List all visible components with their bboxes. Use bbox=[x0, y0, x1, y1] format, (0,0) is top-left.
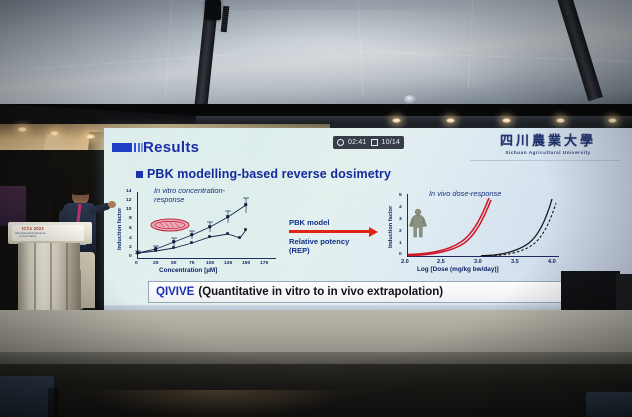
lectern-banner-line1: ICCs 2023 bbox=[22, 226, 44, 231]
ceiling-beam-right bbox=[556, 0, 603, 101]
slide-title: Results bbox=[143, 139, 199, 156]
slide-header-rule bbox=[470, 160, 620, 161]
pbk-model-label: PBK model bbox=[289, 218, 387, 227]
qivive-footer-box: QIVIVE (Quantitative in vitro to in vivo… bbox=[148, 281, 588, 303]
ceiling-downlight bbox=[18, 127, 27, 132]
ceiling-dome-light bbox=[404, 95, 417, 104]
slide-subtitle-row: PBK modelling-based reverse dosimetry bbox=[136, 167, 391, 181]
left-violet-panel bbox=[0, 186, 26, 226]
timer-elapsed: 02:41 bbox=[348, 139, 367, 146]
university-name-en: Sichuan Agricultural University bbox=[484, 150, 612, 155]
in-vivo-plot-svg bbox=[389, 190, 564, 274]
ceiling-downlight bbox=[608, 118, 617, 123]
presenter-right-hand bbox=[108, 201, 116, 208]
lectern-groove bbox=[66, 243, 68, 315]
audience-chair-right bbox=[586, 392, 632, 417]
in-vitro-plot-svg bbox=[118, 188, 283, 274]
bullet-square-icon bbox=[136, 171, 143, 178]
screenshot-root: 02:41 10/14 四川農業大學 Sichuan Agricultural … bbox=[0, 0, 632, 417]
presentation-timer: 02:41 10/14 bbox=[333, 136, 404, 149]
lectern-banner: ICCs 2023 International Conference on Fo… bbox=[12, 225, 84, 241]
human-figure-icon bbox=[409, 209, 426, 237]
clock-icon bbox=[337, 139, 344, 146]
ceiling-downlight bbox=[502, 118, 511, 123]
presenter-hair bbox=[71, 185, 90, 195]
cell-culture-dish-icon bbox=[151, 219, 189, 231]
lectern-groove bbox=[50, 243, 52, 315]
lectern-banner-line3: on Food Safety bbox=[19, 235, 37, 238]
title-marker-icon bbox=[112, 143, 143, 152]
pbk-model-arrow-block: PBK model Relative potency (REP) bbox=[289, 218, 387, 256]
lectern-body bbox=[18, 243, 80, 315]
ceiling-downlight bbox=[446, 118, 455, 123]
floor-light-pool bbox=[86, 390, 346, 417]
audience-chair-left bbox=[0, 376, 54, 417]
ceiling-downlight bbox=[86, 134, 95, 139]
relative-potency-label: Relative potency (REP) bbox=[289, 237, 387, 256]
ceiling-downlight bbox=[50, 131, 59, 136]
university-name-cn: 四川農業大學 bbox=[484, 134, 612, 149]
chair-shadow bbox=[48, 388, 58, 417]
university-logo: 四川農業大學 Sichuan Agricultural University bbox=[484, 134, 612, 155]
qivive-acronym: QIVIVE bbox=[156, 286, 194, 298]
slides-icon bbox=[371, 139, 378, 146]
in-vitro-chart: In vitro concentration- response Inducti… bbox=[118, 188, 283, 274]
lectern-top: ICCs 2023 International Conference on Fo… bbox=[8, 222, 92, 244]
ceiling-speaker bbox=[205, 0, 221, 20]
in-vivo-chart: In vivo dose-response Induction factor 5… bbox=[389, 190, 564, 274]
slide-counter: 10/14 bbox=[382, 139, 401, 146]
ceiling-downlight bbox=[556, 118, 565, 123]
ceiling-downlight bbox=[392, 118, 401, 123]
lectern-groove bbox=[34, 243, 36, 315]
red-arrow-icon bbox=[289, 229, 387, 234]
qivive-expansion: (Quantitative in vitro to in vivo extrap… bbox=[198, 286, 443, 298]
slide-subtitle: PBK modelling-based reverse dosimetry bbox=[147, 167, 391, 181]
